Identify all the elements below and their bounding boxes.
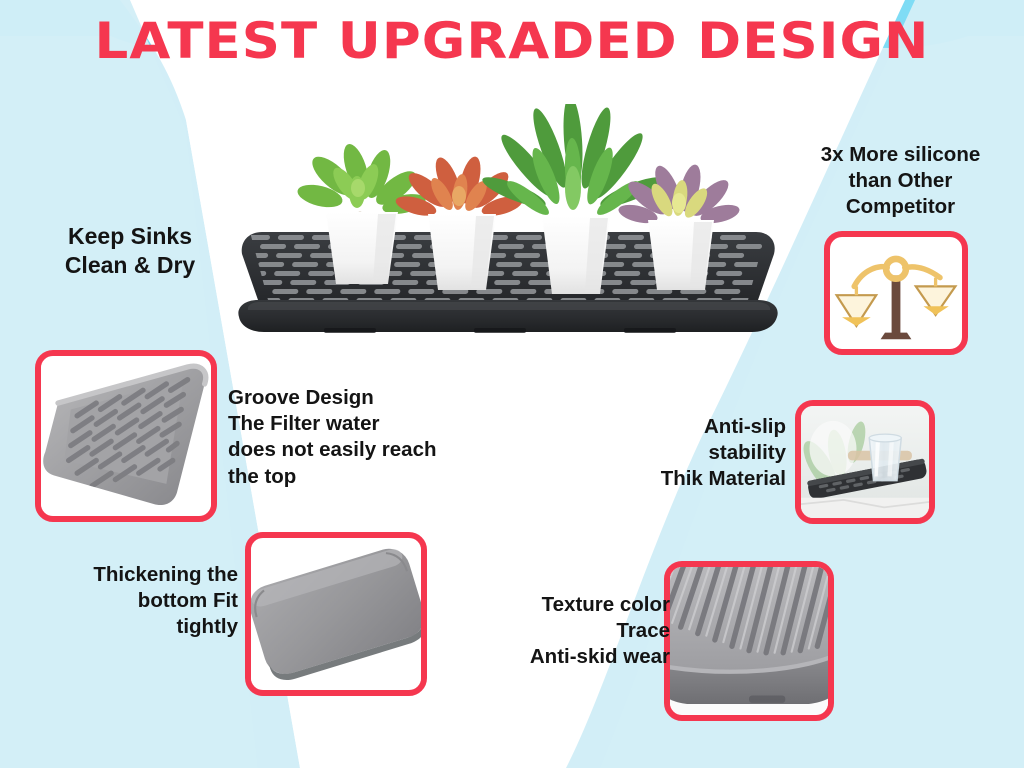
callout-thickening-bottom: Thickening the bottom Fit tightly: [20, 562, 238, 641]
hero-product-image: [228, 104, 788, 340]
drinking-glass: [869, 434, 901, 481]
scale-pan-right-fill: [924, 306, 949, 315]
background-vase: [810, 421, 857, 476]
tray-with-succulents-illustration: [228, 104, 788, 340]
frame-balance-scale: [824, 231, 968, 355]
scale-column: [892, 275, 901, 334]
frame-tray-underside-photo: [245, 532, 427, 696]
scale-beam-right: [905, 267, 940, 278]
counter-surface: [801, 498, 929, 518]
balance-scale-icon: [830, 237, 962, 349]
frame-groove-tray-photo: [35, 350, 217, 522]
scale-beam-left: [854, 267, 887, 287]
texture-foot: [749, 695, 785, 702]
scale-pan-left-fill: [842, 317, 871, 326]
callout-3x-more-silicone: 3x More silicone than Other Competitor: [778, 142, 1023, 221]
page-title: LATEST UPGRADED DESIGN: [0, 12, 1024, 70]
gray-grooved-tray-photo: [41, 356, 211, 516]
callout-texture-color: Texture color Trace Anti-skid wear: [420, 592, 670, 671]
tray-rim-highlight: [248, 302, 770, 310]
glass-on-tray-photo: [801, 406, 929, 518]
infographic-poster: LATEST UPGRADED DESIGN: [0, 0, 1024, 768]
tray-texture-corner-photo: [670, 567, 828, 715]
frame-texture-photo: [664, 561, 834, 721]
tray-underside-photo: [251, 538, 421, 690]
callout-anti-slip: Anti-slip stability Thik Material: [600, 414, 786, 493]
purple-yellow-succulent: [617, 162, 742, 226]
callout-groove-design: Groove Design The Filter water does not …: [228, 385, 513, 490]
frame-anti-slip-photo: [795, 400, 935, 524]
callout-keep-sinks: Keep Sinks Clean & Dry: [20, 222, 240, 281]
